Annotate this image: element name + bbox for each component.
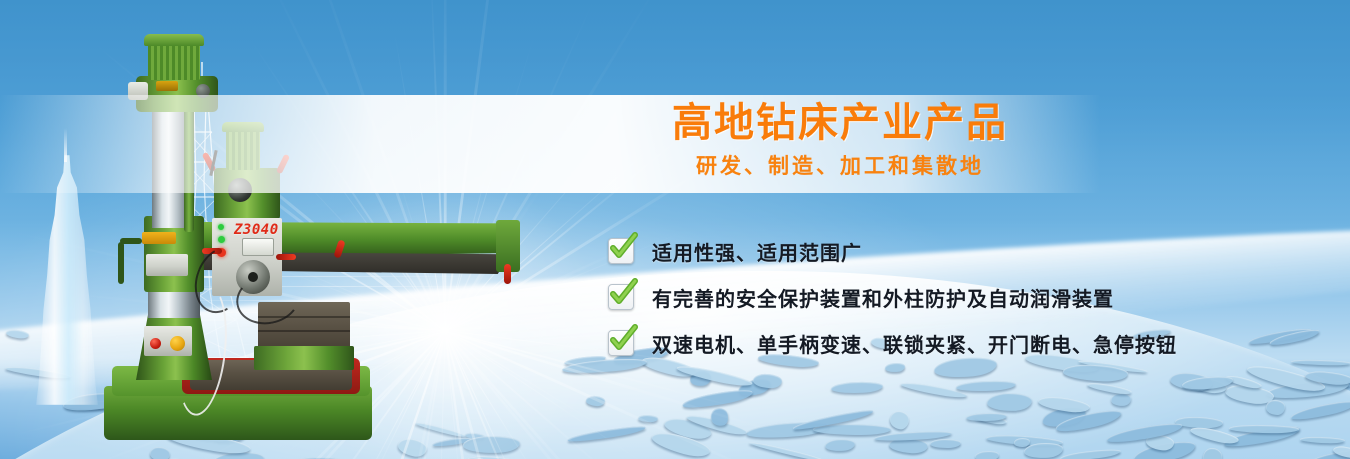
- headline-block: 高地钻床产业产品 研发、制造、加工和集散地: [600, 100, 1080, 180]
- feature-item: 适用性强、适用范围广: [608, 236, 1177, 266]
- green-check-icon: [608, 238, 634, 264]
- feature-label: 双速电机、单手柄变速、联锁夹紧、开门断电、急停按钮: [652, 329, 1177, 358]
- product-banner: Z3040 高地钻床产业产品 研发、制造、加工和集散地 适用性强、适用范围广有完…: [0, 0, 1350, 459]
- feature-label: 有完善的安全保护装置和外柱防护及自动润滑装置: [652, 283, 1114, 312]
- green-check-icon: [608, 330, 634, 356]
- page-title: 高地钻床产业产品: [600, 100, 1080, 146]
- feature-label: 适用性强、适用范围广: [652, 237, 862, 266]
- feature-item: 双速电机、单手柄变速、联锁夹紧、开门断电、急停按钮: [608, 328, 1177, 358]
- green-check-icon: [608, 284, 634, 310]
- radial-drilling-machine: Z3040: [86, 26, 556, 450]
- machine-model-label: Z3040: [234, 222, 279, 238]
- continent-shape: [986, 392, 1032, 411]
- feature-list: 适用性强、适用范围广有完善的安全保护装置和外柱防护及自动润滑装置双速电机、单手柄…: [608, 236, 1177, 374]
- continent-shape: [1203, 448, 1222, 459]
- page-subtitle: 研发、制造、加工和集散地: [600, 154, 1080, 180]
- feature-item: 有完善的安全保护装置和外柱防护及自动润滑装置: [608, 282, 1177, 312]
